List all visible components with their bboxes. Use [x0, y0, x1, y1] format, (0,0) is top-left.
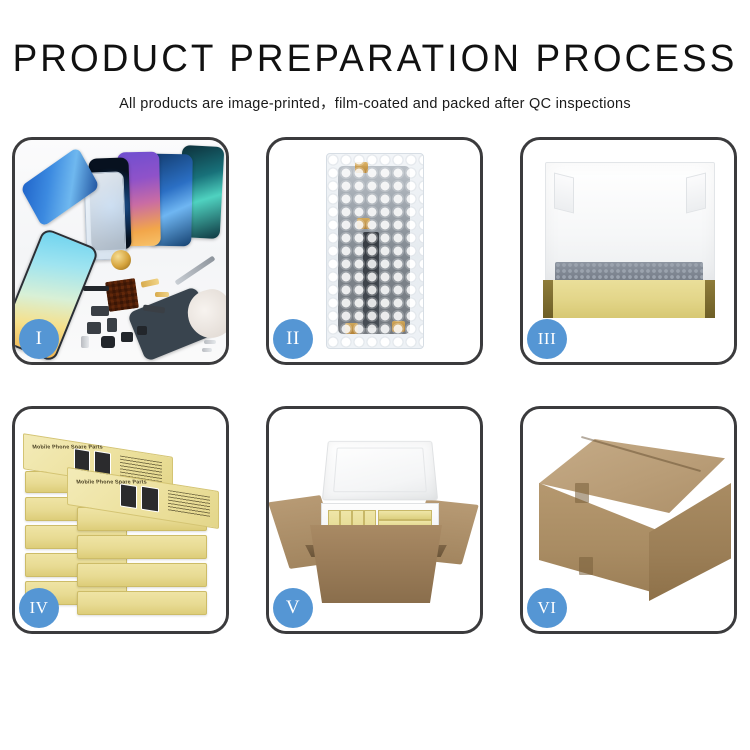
- process-step-card-4[interactable]: Mobile Phone Spare Parts Mobile Phone Sp…: [12, 406, 229, 634]
- shield-can-part: [137, 326, 147, 335]
- connector-bottom-left: [345, 323, 358, 334]
- process-step-card-6[interactable]: VI: [520, 406, 737, 634]
- logic-board-part: [105, 278, 139, 312]
- vibration-motor-part: [111, 250, 131, 270]
- connector-top: [355, 162, 368, 173]
- process-step-card-3[interactable]: III: [520, 137, 737, 365]
- bracket-part-a: [91, 306, 109, 316]
- page-subtitle: All products are image-printed，film-coat…: [0, 78, 750, 113]
- box-base-yellow: [543, 280, 715, 318]
- box-base-edge-left: [543, 280, 553, 318]
- step-badge-5: V: [273, 588, 313, 628]
- sim-tray-part: [81, 336, 89, 348]
- box-base-edge-right: [705, 280, 715, 318]
- process-step-card-5[interactable]: V: [266, 406, 483, 634]
- page-header: PRODUCT PREPARATION PROCESS All products…: [0, 0, 750, 113]
- process-step-card-1[interactable]: I: [12, 137, 229, 365]
- step-badge-6: VI: [527, 588, 567, 628]
- wrapped-flex-cable: [363, 232, 379, 328]
- foam-lid-inner-edge: [333, 448, 427, 493]
- process-step-card-2[interactable]: II: [266, 137, 483, 365]
- flex-cable-part-b: [155, 292, 169, 297]
- foam-lid: [322, 441, 438, 501]
- bracket-part-b: [87, 322, 101, 334]
- box-label-text: Mobile Phone Spare Parts: [32, 445, 103, 451]
- lid-flap-left: [554, 173, 574, 214]
- taptic-engine-part: [121, 332, 133, 342]
- lid-flap-right: [686, 173, 706, 214]
- process-step-grid: I II: [12, 137, 738, 692]
- carton-tape-lower: [579, 557, 593, 575]
- step-badge-3: III: [527, 319, 567, 359]
- speaker-part: [83, 286, 109, 291]
- step-badge-4: IV: [19, 588, 59, 628]
- bubble-wrap-bag: [326, 153, 424, 349]
- box-label-text: Mobile Phone Spare Parts: [76, 479, 147, 485]
- step-badge-2: II: [273, 319, 313, 359]
- box-spec-lines: [168, 490, 210, 519]
- connector-bottom-right: [392, 321, 405, 332]
- step-badge-1: I: [19, 319, 59, 359]
- carton-front-wall: [301, 525, 451, 603]
- screw-part-a: [204, 340, 216, 344]
- stacked-box-edge: [77, 535, 207, 559]
- stacked-box-edge: [77, 591, 207, 615]
- box-artwork-screen-a: [120, 483, 137, 509]
- packed-box: [378, 510, 432, 520]
- connector-middle: [357, 218, 370, 229]
- button-flex-part: [107, 318, 117, 332]
- camera-module-part: [101, 336, 115, 348]
- screw-part-b: [202, 348, 212, 352]
- box-artwork-screen-b: [141, 486, 159, 513]
- stacked-box-edge: [77, 563, 207, 587]
- carton-tape-upper: [575, 483, 589, 503]
- page-title: PRODUCT PREPARATION PROCESS: [11, 0, 739, 78]
